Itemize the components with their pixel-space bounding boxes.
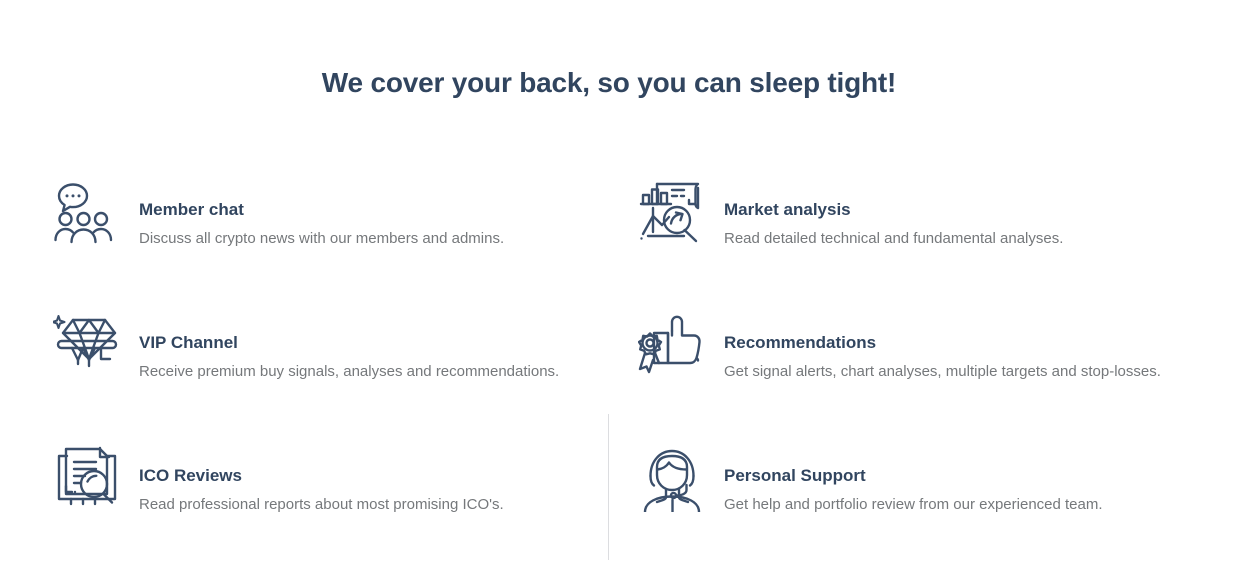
feature-title: Recommendations bbox=[724, 332, 1194, 354]
feature-text: Market analysis Read detailed technical … bbox=[724, 178, 1194, 249]
feature-description: Discuss all crypto news with our members… bbox=[139, 228, 609, 249]
feature-description: Read professional reports about most pro… bbox=[139, 494, 609, 515]
feature-title: Member chat bbox=[139, 199, 609, 221]
feature-title: Personal Support bbox=[724, 465, 1194, 487]
feature-description: Get signal alerts, chart analyses, multi… bbox=[724, 361, 1194, 382]
page-title: We cover your back, so you can sleep tig… bbox=[0, 67, 1218, 99]
feature-text: VIP Channel Receive premium buy signals,… bbox=[139, 311, 609, 382]
feature-description: Receive premium buy signals, analyses an… bbox=[139, 361, 609, 382]
member-chat-icon bbox=[53, 178, 121, 246]
feature-text: Recommendations Get signal alerts, chart… bbox=[724, 311, 1194, 382]
feature-text: Personal Support Get help and portfolio … bbox=[724, 444, 1194, 515]
feature-title: VIP Channel bbox=[139, 332, 609, 354]
vip-channel-diamond-icon bbox=[53, 311, 121, 379]
ico-reviews-document-search-icon bbox=[53, 444, 121, 512]
feature-text: ICO Reviews Read professional reports ab… bbox=[139, 444, 609, 515]
feature-description: Get help and portfolio review from our e… bbox=[724, 494, 1194, 515]
market-analysis-icon bbox=[638, 178, 706, 246]
feature-description: Read detailed technical and fundamental … bbox=[724, 228, 1194, 249]
personal-support-headset-icon bbox=[638, 444, 706, 512]
feature-title: Market analysis bbox=[724, 199, 1194, 221]
recommendations-thumbs-up-icon bbox=[638, 311, 706, 379]
feature-title: ICO Reviews bbox=[139, 465, 609, 487]
feature-text: Member chat Discuss all crypto news with… bbox=[139, 178, 609, 249]
